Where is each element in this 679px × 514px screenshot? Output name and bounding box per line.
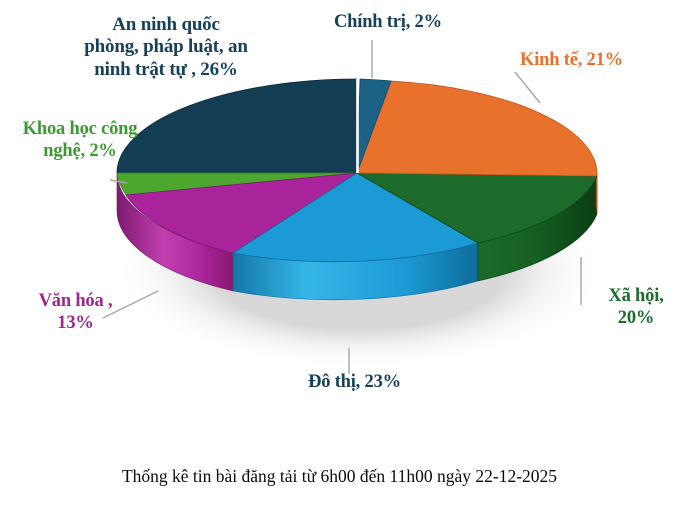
slice-top-kinh-te: [357, 81, 597, 176]
pie-label-van-hoa: Văn hóa , 13%: [8, 291, 143, 335]
pie-label-an-ninh: An ninh quốc phòng, pháp luật, an ninh t…: [46, 14, 286, 81]
pie-label-xa-hoi: Xã hội, 20%: [596, 286, 676, 330]
pie-label-chinh-tri: Chính trị, 2%: [334, 12, 494, 34]
leader-line-kinh-te: [515, 72, 540, 103]
pie-label-kinh-te: Kinh tế, 21%: [520, 50, 675, 72]
pie-label-do-thi: Đô thị, 23%: [272, 372, 437, 394]
chart-caption: Thống kê tin bài đăng tải từ 6h00 đến 11…: [0, 466, 679, 487]
pie-label-khoa-hoc: Khoa học công nghệ, 2%: [0, 119, 160, 163]
pie-chart-page: An ninh quốc phòng, pháp luật, an ninh t…: [0, 0, 679, 514]
